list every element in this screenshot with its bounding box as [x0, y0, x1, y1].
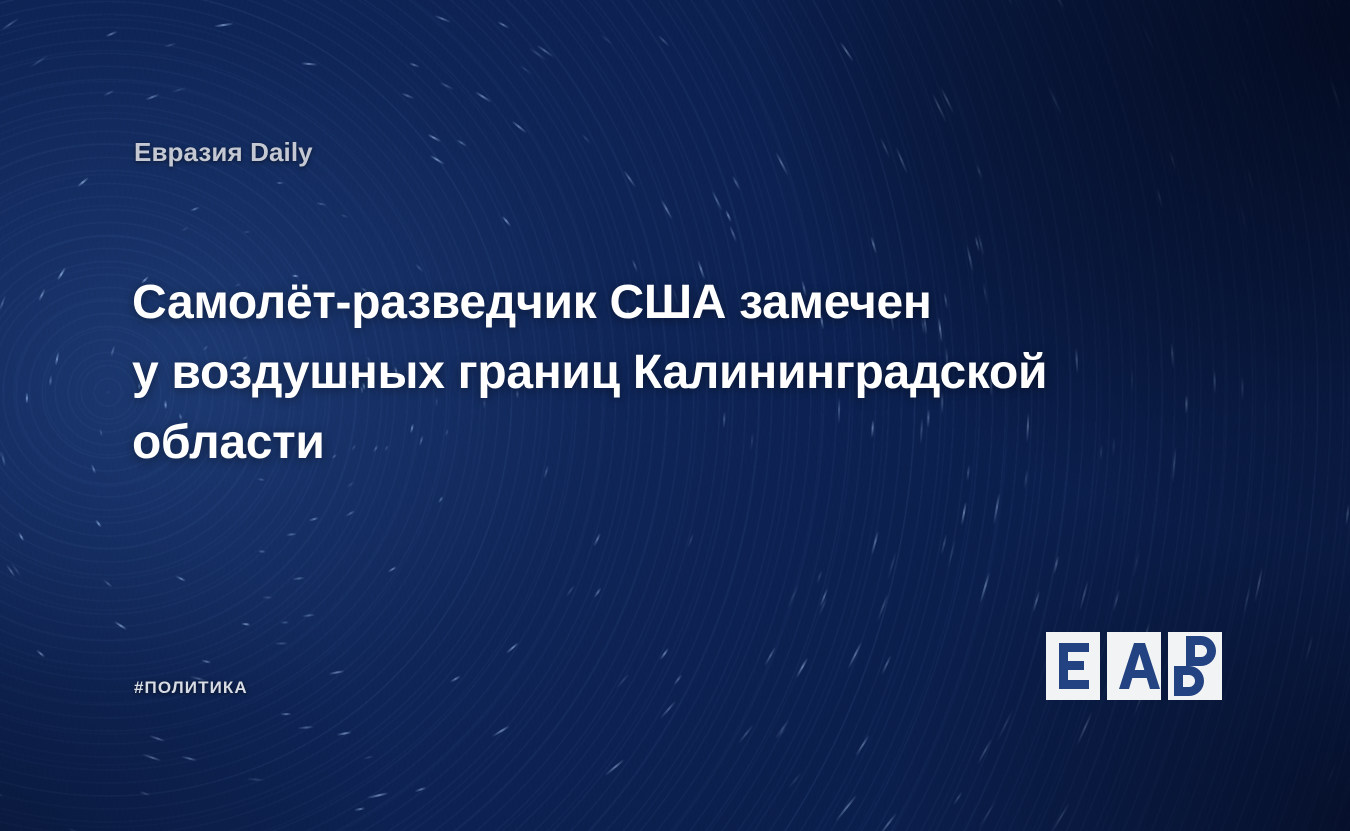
article-headline: Самолёт-разведчик США замечен у воздушны… — [132, 268, 1212, 477]
site-logo-text: Евразия Daily — [134, 137, 313, 168]
card-content: Евразия Daily Самолёт-разведчик США заме… — [0, 0, 1350, 831]
category-hashtag: #ПОЛИТИКА — [134, 678, 248, 698]
ead-brand-logo — [1046, 632, 1222, 700]
headline-line-3: области — [132, 416, 325, 469]
headline-line-1: Самолёт-разведчик США замечен — [132, 276, 932, 329]
news-social-card: Евразия Daily Самолёт-разведчик США заме… — [0, 0, 1350, 831]
headline-line-2: у воздушных границ Калининградской — [132, 346, 1047, 399]
